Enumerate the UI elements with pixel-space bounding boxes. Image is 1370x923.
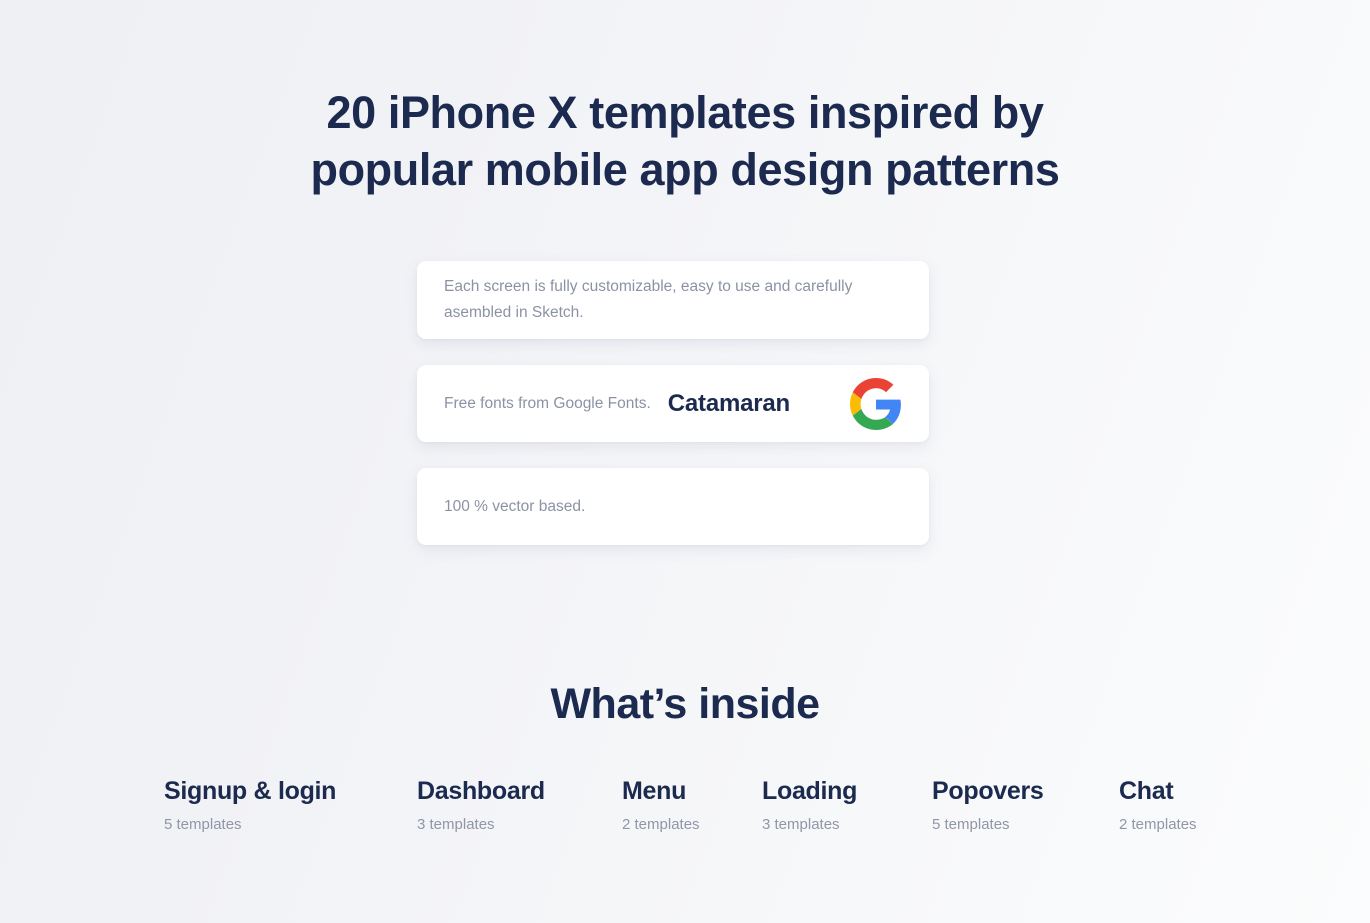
category-name: Signup & login xyxy=(164,775,417,807)
category-template-count: 3 templates xyxy=(762,814,932,836)
category-name: Menu xyxy=(622,775,762,807)
category-list: Signup & login 5 templates Dashboard 3 t… xyxy=(164,775,1244,836)
feature-card-text-line-1: 100 % vector based. xyxy=(444,494,585,520)
feature-card-text-line-1: Each screen is fully customizable, easy … xyxy=(444,274,852,300)
category-item-chat[interactable]: Chat 2 templates xyxy=(1119,775,1244,836)
category-name: Popovers xyxy=(932,775,1119,807)
page-title-line-2: popular mobile app design patterns xyxy=(0,141,1370,198)
category-item-popovers[interactable]: Popovers 5 templates xyxy=(932,775,1119,836)
feature-cards-list: Each screen is fully customizable, easy … xyxy=(417,261,929,545)
category-item-menu[interactable]: Menu 2 templates xyxy=(622,775,762,836)
category-template-count: 2 templates xyxy=(622,814,762,836)
google-g-logo-icon xyxy=(850,378,902,430)
feature-card-text: Each screen is fully customizable, easy … xyxy=(444,274,852,326)
feature-card-text-line-2: asembled in Sketch. xyxy=(444,300,852,326)
category-template-count: 5 templates xyxy=(932,814,1119,836)
category-name: Chat xyxy=(1119,775,1244,807)
section-title-whats-inside: What’s inside xyxy=(0,678,1370,730)
google-fonts-row: Free fonts from Google Fonts. Catamaran xyxy=(444,378,902,430)
feature-card-google-fonts: Free fonts from Google Fonts. Catamaran xyxy=(417,365,929,442)
font-name-catamaran: Catamaran xyxy=(668,390,790,418)
feature-card-customizable: Each screen is fully customizable, easy … xyxy=(417,261,929,339)
category-item-dashboard[interactable]: Dashboard 3 templates xyxy=(417,775,622,836)
category-name: Dashboard xyxy=(417,775,622,807)
category-template-count: 5 templates xyxy=(164,814,417,836)
landing-page: 20 iPhone X templates inspired by popula… xyxy=(0,0,1370,923)
category-name: Loading xyxy=(762,775,932,807)
feature-card-text: 100 % vector based. xyxy=(444,494,585,520)
category-item-loading[interactable]: Loading 3 templates xyxy=(762,775,932,836)
category-template-count: 3 templates xyxy=(417,814,622,836)
page-title: 20 iPhone X templates inspired by popula… xyxy=(0,84,1370,198)
feature-card-vector-based: 100 % vector based. xyxy=(417,468,929,545)
google-fonts-label: Free fonts from Google Fonts. xyxy=(444,391,651,417)
page-title-line-1: 20 iPhone X templates inspired by xyxy=(0,84,1370,141)
category-template-count: 2 templates xyxy=(1119,814,1244,836)
category-item-signup-login[interactable]: Signup & login 5 templates xyxy=(164,775,417,836)
